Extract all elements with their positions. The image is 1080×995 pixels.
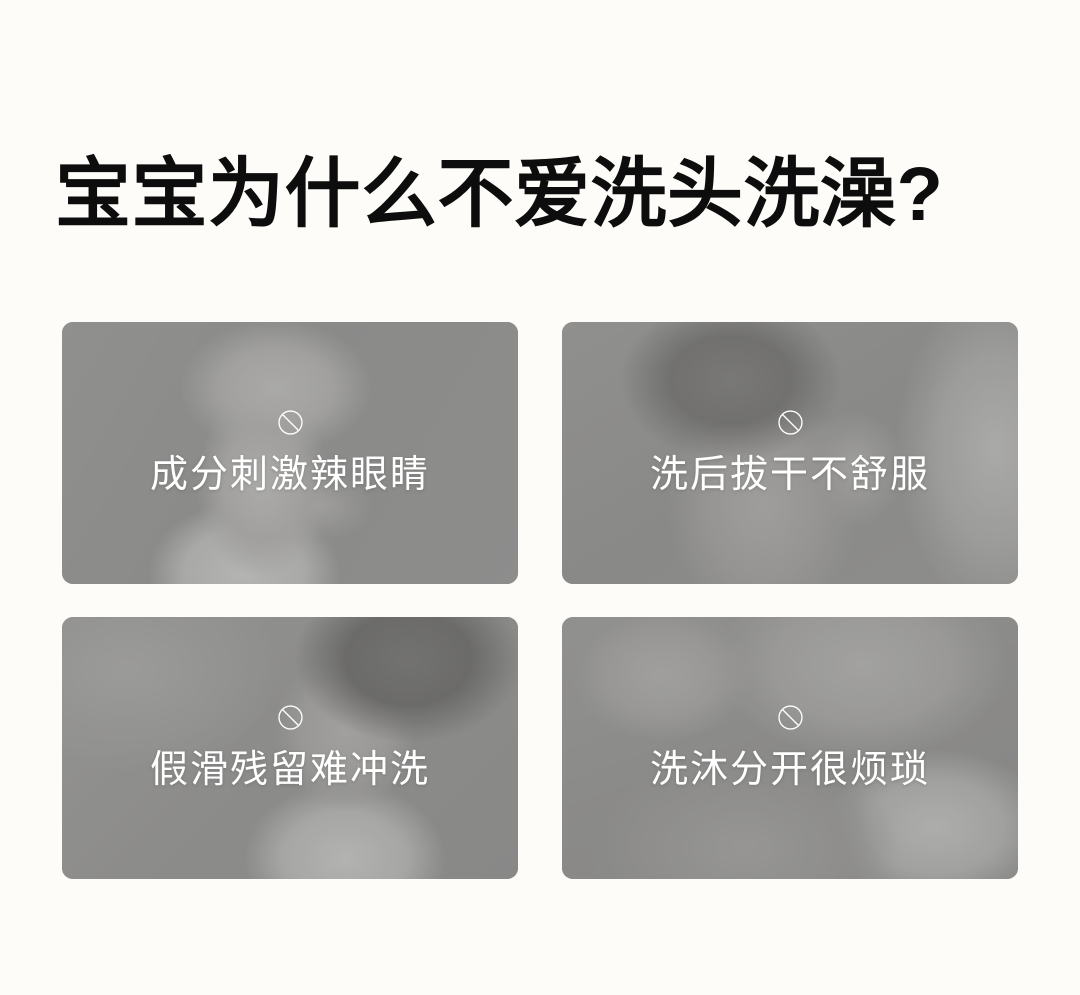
product-detail-page: 宝宝为什么不爱洗头洗澡? 成分刺激辣眼睛 洗后拔 [0, 0, 1080, 995]
card-content: 洗沐分开很烦琐 [562, 617, 1018, 879]
card-label: 洗后拔干不舒服 [650, 452, 930, 498]
prohibition-icon [277, 704, 304, 731]
pain-point-card-grid: 成分刺激辣眼睛 洗后拔干不舒服 [62, 322, 1018, 879]
pain-point-card-3[interactable]: 假滑残留难冲洗 [62, 617, 518, 879]
prohibition-icon [777, 409, 804, 436]
pain-point-card-4[interactable]: 洗沐分开很烦琐 [562, 617, 1018, 879]
pain-point-card-2[interactable]: 洗后拔干不舒服 [562, 322, 1018, 584]
card-label: 洗沐分开很烦琐 [650, 747, 930, 793]
pain-point-card-1[interactable]: 成分刺激辣眼睛 [62, 322, 518, 584]
card-label: 假滑残留难冲洗 [150, 747, 430, 793]
card-content: 成分刺激辣眼睛 [62, 322, 518, 584]
prohibition-icon [777, 704, 804, 731]
page-title: 宝宝为什么不爱洗头洗澡? [55, 149, 1045, 241]
card-content: 假滑残留难冲洗 [62, 617, 518, 879]
card-label: 成分刺激辣眼睛 [150, 452, 430, 498]
prohibition-icon [277, 409, 304, 436]
card-content: 洗后拔干不舒服 [562, 322, 1018, 584]
